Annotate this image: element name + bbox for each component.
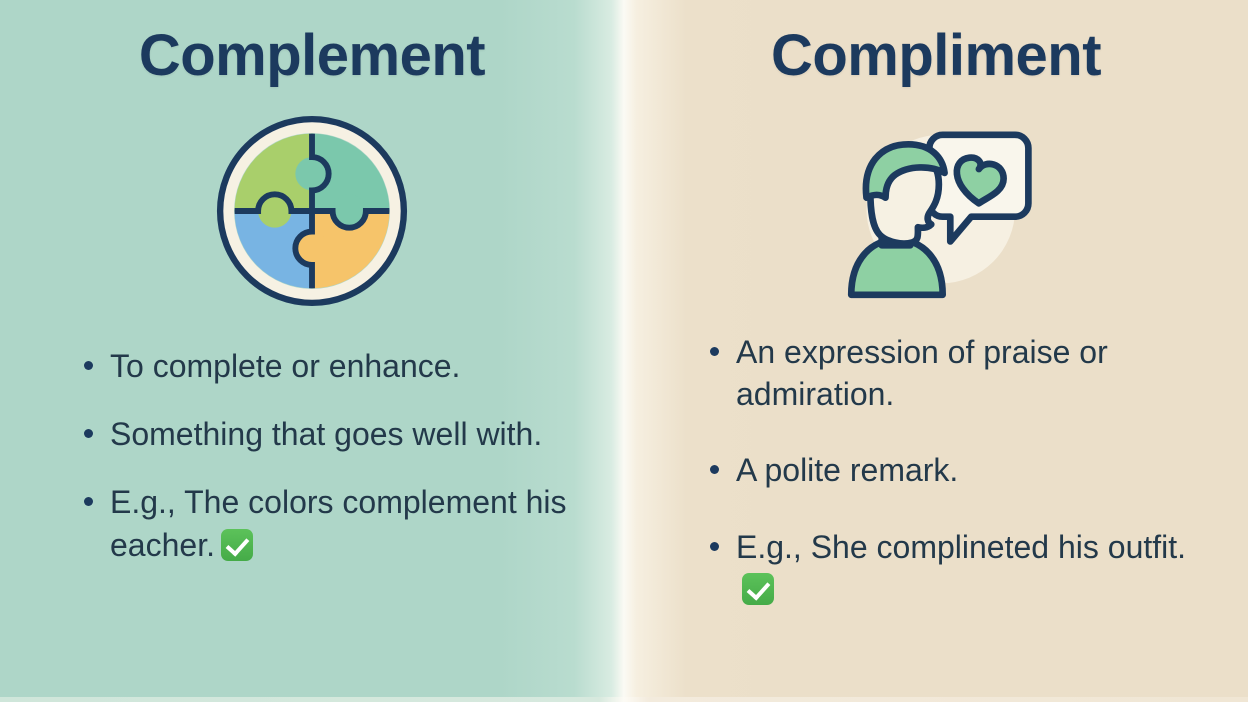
- bullet-text: A polite remark.: [736, 452, 958, 488]
- check-mark-icon: [221, 529, 253, 561]
- check-mark-icon: [742, 573, 774, 605]
- panel-compliment: Compliment An expression of praise or: [624, 0, 1248, 702]
- comparison-infographic: Complement: [0, 0, 1248, 702]
- person-speech-heart-icon: [836, 111, 1036, 311]
- bullet-text: An expression of praise or admiration.: [736, 334, 1108, 412]
- page-title-compliment: Compliment: [771, 22, 1101, 89]
- list-item: E.g., The colors complement his eacher.: [84, 481, 600, 565]
- panel-complement: Complement: [0, 0, 624, 702]
- bullet-text: Something that goes well with.: [110, 416, 542, 452]
- bullet-text: To complete or enhance.: [110, 348, 460, 384]
- puzzle-circle-icon: [214, 111, 410, 311]
- list-item: A polite remark.: [710, 449, 1208, 491]
- bullet-list-compliment: An expression of praise or admiration. A…: [624, 331, 1248, 644]
- list-item: To complete or enhance.: [84, 345, 600, 387]
- page-title-complement: Complement: [139, 22, 485, 89]
- list-item: E.g., She complineted his outfit.: [710, 526, 1208, 610]
- bullet-list-complement: To complete or enhance. Something that g…: [0, 345, 624, 592]
- list-item: Something that goes well with.: [84, 413, 600, 455]
- list-item: An expression of praise or admiration.: [710, 331, 1208, 415]
- bullet-text: E.g., The colors complement his eacher.: [110, 484, 567, 562]
- bullet-text: E.g., She complineted his outfit.: [736, 529, 1186, 565]
